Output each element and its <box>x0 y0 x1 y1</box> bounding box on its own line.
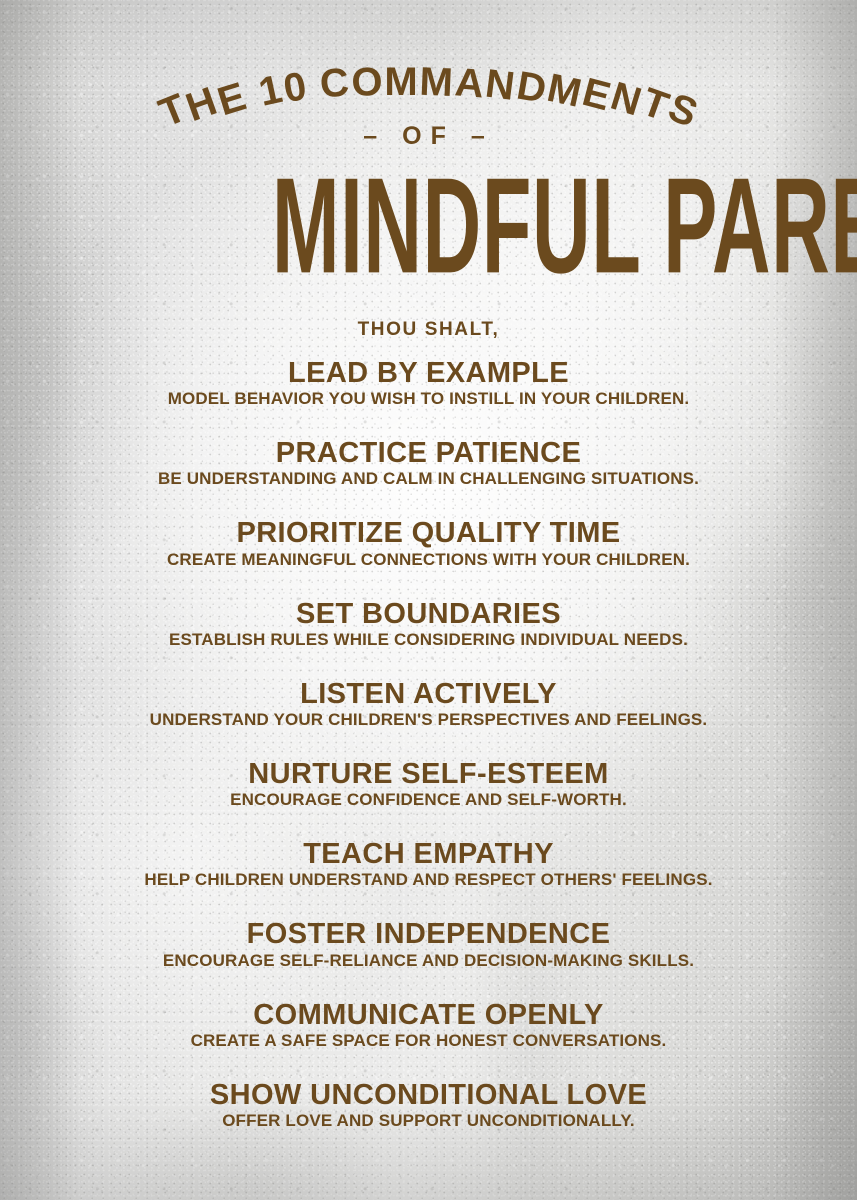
dash-right-glyph: – <box>455 122 510 151</box>
commandment-subtitle: UNDERSTAND YOUR CHILDREN'S PERSPECTIVES … <box>0 710 857 730</box>
commandment-title: COMMUNICATE OPENLY <box>0 1000 857 1030</box>
dash-left-glyph: – <box>347 122 402 151</box>
commandment-list: LEAD BY EXAMPLEMODEL BEHAVIOR YOU WISH T… <box>0 358 857 1131</box>
commandment-title: NURTURE SELF-ESTEEM <box>0 759 857 789</box>
arched-heading: THE10COMMANDMENTS <box>0 62 857 128</box>
commandment-title: LEAD BY EXAMPLE <box>0 358 857 388</box>
arched-heading-char: M <box>384 62 418 102</box>
commandment-title: SET BOUNDARIES <box>0 599 857 629</box>
arched-heading-char: O <box>350 62 383 103</box>
arched-heading-char: A <box>453 62 486 104</box>
arched-heading-char: M <box>419 62 455 103</box>
commandment-item: FOSTER INDEPENDENCEENCOURAGE SELF-RELIAN… <box>0 919 857 970</box>
commandment-subtitle: HELP CHILDREN UNDERSTAND AND RESPECT OTH… <box>0 870 857 890</box>
of-divider-line: –OF– <box>0 122 857 151</box>
commandment-subtitle: OFFER LOVE AND SUPPORT UNCONDITIONALLY. <box>0 1111 857 1131</box>
commandment-item: LEAD BY EXAMPLEMODEL BEHAVIOR YOU WISH T… <box>0 358 857 409</box>
arched-heading-char: C <box>319 62 352 104</box>
commandment-title: FOSTER INDEPENDENCE <box>0 919 857 949</box>
main-title: MINDFUL PARENTING <box>0 160 857 292</box>
commandment-item: PRACTICE PATIENCEBE UNDERSTANDING AND CA… <box>0 438 857 489</box>
commandment-subtitle: ENCOURAGE CONFIDENCE AND SELF-WORTH. <box>0 790 857 810</box>
commandment-item: COMMUNICATE OPENLYCREATE A SAFE SPACE FO… <box>0 1000 857 1051</box>
intro-line: THOU SHALT, <box>0 319 857 341</box>
commandment-subtitle: CREATE A SAFE SPACE FOR HONEST CONVERSAT… <box>0 1031 857 1051</box>
commandment-title: SHOW UNCONDITIONAL LOVE <box>0 1080 857 1110</box>
commandment-item: SHOW UNCONDITIONAL LOVEOFFER LOVE AND SU… <box>0 1080 857 1131</box>
commandment-item: TEACH EMPATHYHELP CHILDREN UNDERSTAND AN… <box>0 839 857 890</box>
commandment-title: LISTEN ACTIVELY <box>0 679 857 709</box>
commandment-item: PRIORITIZE QUALITY TIMECREATE MEANINGFUL… <box>0 518 857 569</box>
arched-heading-char: N <box>484 63 518 106</box>
commandment-subtitle: CREATE MEANINGFUL CONNECTIONS WITH YOUR … <box>0 550 857 570</box>
commandment-subtitle: MODEL BEHAVIOR YOU WISH TO INSTILL IN YO… <box>0 389 857 409</box>
poster-content: THE10COMMANDMENTS –OF– MINDFUL PARENTING… <box>0 0 857 1200</box>
commandment-subtitle: ESTABLISH RULES WHILE CONSIDERING INDIVI… <box>0 630 857 650</box>
of-label: OF <box>402 122 455 150</box>
commandment-subtitle: BE UNDERSTANDING AND CALM IN CHALLENGING… <box>0 469 857 489</box>
commandment-item: SET BOUNDARIESESTABLISH RULES WHILE CONS… <box>0 599 857 650</box>
main-title-text: MINDFUL PARENTING <box>272 158 857 294</box>
poster: THE10COMMANDMENTS –OF– MINDFUL PARENTING… <box>0 0 857 1200</box>
commandment-item: LISTEN ACTIVELYUNDERSTAND YOUR CHILDREN'… <box>0 679 857 730</box>
commandment-title: PRACTICE PATIENCE <box>0 438 857 468</box>
commandment-title: TEACH EMPATHY <box>0 839 857 869</box>
commandment-item: NURTURE SELF-ESTEEMENCOURAGE CONFIDENCE … <box>0 759 857 810</box>
commandment-title: PRIORITIZE QUALITY TIME <box>0 518 857 548</box>
commandment-subtitle: ENCOURAGE SELF-RELIANCE AND DECISION-MAK… <box>0 951 857 971</box>
